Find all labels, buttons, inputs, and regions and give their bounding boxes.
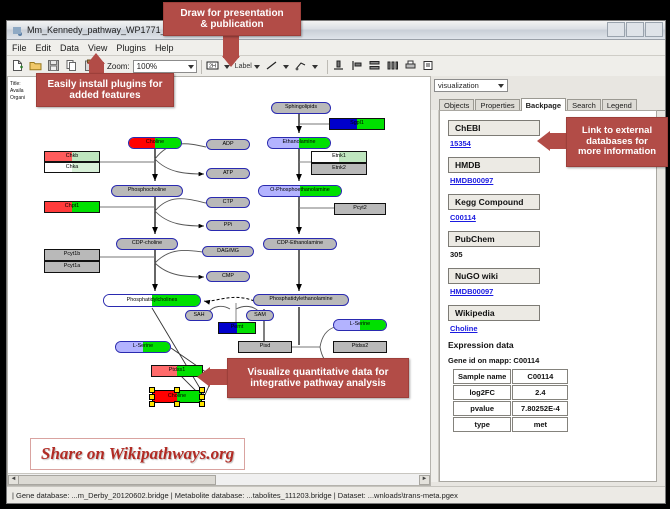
node-label: Phosphocholine <box>128 188 166 193</box>
node-label: Pcyt2 <box>353 206 366 211</box>
pathway-node[interactable]: ADP <box>206 139 250 150</box>
table-cell: met <box>512 417 568 432</box>
align-top-icon[interactable] <box>332 59 347 74</box>
status-text: | Gene database: ...m_Derby_20120602.bri… <box>7 491 458 500</box>
pathway-gene-box[interactable]: Sgpl1 <box>329 118 385 130</box>
copy-icon[interactable] <box>65 59 80 74</box>
table-cell: 7.80252E-4 <box>512 401 568 416</box>
selection-handle[interactable] <box>174 387 180 393</box>
selection-handle[interactable] <box>174 401 180 407</box>
node-label: Chkb <box>66 154 79 159</box>
minimize-button[interactable] <box>607 22 625 37</box>
title-bar: Mm_Kennedy_pathway_WP1771_45176.gpml <box>7 21 665 40</box>
db-header-nugowiki: NuGO wiki <box>448 268 540 284</box>
db-header-kegg: Kegg Compound <box>448 194 540 210</box>
pathway-gene-box[interactable]: Chpt1 <box>44 201 100 213</box>
table-cell: C00114 <box>512 369 568 384</box>
selection-handle[interactable] <box>199 387 205 393</box>
node-label: Sphingolipids <box>285 105 317 110</box>
pathway-gene-box[interactable]: Pcyt1a <box>44 261 100 273</box>
zoom-value: 100% <box>137 62 157 71</box>
node-label: Ptdss2 <box>352 344 368 349</box>
callout-draw-line2: & publication <box>200 19 263 31</box>
canvas-hscrollbar[interactable]: ◄ ► <box>8 473 430 485</box>
callout-plugins-line1: Easily install plugins for <box>47 79 162 91</box>
node-label: Ptdss1 <box>169 368 185 373</box>
node-label: Ethanolamine <box>283 140 316 145</box>
db-header-hmdb: HMDB <box>448 157 540 173</box>
visualization-select-value: visualization <box>438 81 479 90</box>
callout-visualize-line1: Visualize quantitative data for <box>248 367 389 379</box>
callout-visualize-arrow <box>197 367 210 387</box>
zoom-select[interactable]: 100% <box>133 60 197 73</box>
callout-link-line3: more information <box>578 147 656 158</box>
interaction-tool[interactable] <box>294 59 309 74</box>
node-label: Etnk1 <box>332 154 346 159</box>
pathway-node[interactable]: Sphingolipids <box>271 102 331 114</box>
node-label: Pisd <box>260 344 271 349</box>
pathway-gene-box[interactable]: Pcyt2 <box>334 203 386 215</box>
chevron-down-icon[interactable] <box>312 65 318 69</box>
pathway-node[interactable]: ATP <box>206 168 250 179</box>
table-row: Sample name C00114 <box>453 369 568 384</box>
menu-view[interactable]: View <box>88 43 107 53</box>
pathway-node[interactable]: Phosphatidylcholines <box>103 294 201 307</box>
status-bar: | Gene database: ...m_Derby_20120602.bri… <box>7 486 665 503</box>
expression-table: Sample name C00114 log2FC 2.4 pvalue 7.8… <box>452 368 569 433</box>
node-label: CMP <box>222 274 234 279</box>
pathway-node[interactable]: L-Serine <box>333 319 387 331</box>
share-annotation: Share on Wikipathways.org <box>30 438 245 470</box>
scroll-thumb[interactable] <box>18 475 216 485</box>
align-left-icon[interactable] <box>350 59 365 74</box>
menu-plugins[interactable]: Plugins <box>116 43 146 53</box>
node-label: PPi <box>224 223 232 228</box>
line-tool[interactable] <box>265 59 280 74</box>
tab-backpage[interactable]: Backpage <box>521 98 566 112</box>
node-label: Choline <box>146 140 164 145</box>
callout-plugins: Easily install plugins for added feature… <box>36 73 174 107</box>
callout-link-line1: Link to external <box>582 126 652 137</box>
selection-handle[interactable] <box>149 401 155 407</box>
open-folder-icon[interactable] <box>29 59 44 74</box>
selection-handle[interactable] <box>149 394 155 400</box>
visualization-bar: visualization <box>431 76 665 95</box>
pathway-gene-box[interactable]: Pcyt1b <box>44 249 100 261</box>
menu-file[interactable]: File <box>12 43 27 53</box>
svg-text:2H: 2H <box>209 64 216 70</box>
selection-handle[interactable] <box>149 387 155 393</box>
maximize-button[interactable] <box>626 22 644 37</box>
callout-visualize-stem <box>209 369 229 385</box>
pathway-node[interactable]: Phosphocholine <box>111 185 183 197</box>
pathway-node[interactable]: Ethanolamine <box>267 137 331 149</box>
toolbar-separator <box>327 60 328 74</box>
db-link-hmdb[interactable]: HMDB00097 <box>450 176 656 185</box>
callout-draw-arrowhead <box>222 56 240 67</box>
db-link-wikipedia[interactable]: Choline <box>450 324 656 333</box>
node-label: Chka <box>66 165 79 170</box>
callout-link-arrow <box>537 131 550 151</box>
node-label: L-Serine <box>350 322 370 327</box>
chevron-down-icon[interactable] <box>254 65 260 69</box>
toolbar-separator <box>201 60 202 74</box>
pathvisio-icon <box>12 25 23 36</box>
screenshot-root: Mm_Kennedy_pathway_WP1771_45176.gpml Fil… <box>0 0 670 509</box>
gene-id-label: Gene id on mapp: C00114 <box>448 356 656 365</box>
pathway-node[interactable]: PPi <box>206 220 250 231</box>
pathway-node[interactable]: CDP-Ethanolamine <box>263 238 337 250</box>
callout-visualize: Visualize quantitative data for integrat… <box>227 358 409 398</box>
chevron-down-icon <box>498 84 504 88</box>
pathway-canvas[interactable]: Choline Phosphocholine CDP-choline Phosp… <box>8 77 431 472</box>
chevron-down-icon <box>188 65 194 69</box>
table-cell: Sample name <box>453 369 511 384</box>
info-icon[interactable] <box>422 59 437 74</box>
pathway-gene-box[interactable]: Pemt <box>218 322 256 334</box>
callout-plugins-arrow <box>87 53 105 64</box>
pathway-gene-box[interactable]: Ptdss1 <box>151 365 203 377</box>
db-header-pubchem: PubChem <box>448 231 540 247</box>
pathway-node[interactable]: SAM <box>246 310 274 321</box>
table-row: pvalue 7.80252E-4 <box>453 401 568 416</box>
callout-link: Link to external databases for more info… <box>566 117 668 167</box>
save-icon[interactable] <box>47 59 62 74</box>
distribute-icon[interactable] <box>386 59 401 74</box>
node-label: Choline <box>168 394 186 399</box>
expression-data-heading: Expression data <box>448 340 656 350</box>
side-panel-vscrollbar[interactable] <box>431 110 439 482</box>
pathway-gene-box[interactable]: Etnk1 <box>311 151 367 163</box>
pathway-gene-box[interactable]: Ptdss2 <box>333 341 387 353</box>
node-label: Phosphatidylethanolamine <box>269 297 332 302</box>
datanode-tool[interactable]: 2H <box>206 59 221 74</box>
node-label: Chpt1 <box>65 204 79 209</box>
db-header-chebi: ChEBI <box>448 120 540 136</box>
pathway-node[interactable]: SAH <box>185 310 213 321</box>
node-label: SAM <box>254 313 266 318</box>
node-label: ADP <box>222 142 233 147</box>
node-label: L-Serine <box>133 344 153 349</box>
db-value-pubchem: 305 <box>450 250 656 259</box>
pathway-gene-box[interactable]: Chka <box>44 162 100 173</box>
canvas-title-line: Availa <box>10 88 24 95</box>
node-label: Sgpl1 <box>350 121 364 126</box>
pathway-node[interactable]: Phosphatidylethanolamine <box>253 294 349 306</box>
node-label: Etnk2 <box>332 166 346 171</box>
menu-help[interactable]: Help <box>155 43 174 53</box>
table-cell: type <box>453 417 511 432</box>
node-label: SAH <box>193 313 204 318</box>
canvas-title-line: Title: <box>10 81 21 88</box>
callout-plugins-line2: added features <box>69 90 140 102</box>
table-row: type met <box>453 417 568 432</box>
node-label: CTP <box>223 200 234 205</box>
db-header-wikipedia: Wikipedia <box>448 305 540 321</box>
node-label: Pcyt1b <box>64 252 80 257</box>
pathway-node[interactable]: DAG/MG <box>202 246 254 257</box>
callout-draw: Draw for presentation & publication <box>163 2 301 36</box>
menu-edit[interactable]: Edit <box>36 43 52 53</box>
db-link-nugowiki[interactable]: HMDB00097 <box>450 287 656 296</box>
pathway-gene-box[interactable]: Chkb <box>44 151 100 162</box>
pathway-canvas-panel[interactable]: Choline Phosphocholine CDP-choline Phosp… <box>7 76 431 486</box>
node-label: DAG/MG <box>217 249 239 254</box>
node-label: Phosphatidylcholines <box>127 298 178 303</box>
node-label: Pcyt1a <box>64 264 80 269</box>
scroll-right-button[interactable]: ► <box>419 475 430 485</box>
table-row: log2FC 2.4 <box>453 385 568 400</box>
pathway-node[interactable]: CMP <box>206 271 250 282</box>
selection-handle[interactable] <box>199 401 205 407</box>
pathway-gene-box[interactable]: Etnk2 <box>311 163 367 175</box>
node-label: CDP-Ethanolamine <box>277 241 323 246</box>
menu-data[interactable]: Data <box>60 43 79 53</box>
side-panel-tabs: Objects Properties Backpage Search Legen… <box>431 95 665 111</box>
node-label: Pemt <box>231 325 244 330</box>
pathway-node[interactable]: Choline <box>128 137 182 149</box>
canvas-title-line: Organi <box>10 95 25 102</box>
pathway-node[interactable]: L-Serine <box>115 341 171 353</box>
window-controls[interactable] <box>607 22 663 37</box>
visualization-select[interactable]: visualization <box>434 79 508 92</box>
new-file-icon[interactable] <box>11 59 26 74</box>
chevron-down-icon[interactable] <box>283 65 289 69</box>
callout-visualize-line2: integrative pathway analysis <box>250 378 386 390</box>
print-icon[interactable] <box>404 59 419 74</box>
db-link-kegg[interactable]: C00114 <box>450 213 656 222</box>
selection-handle[interactable] <box>199 394 205 400</box>
pathway-node[interactable]: O-Phosphoethanolamine <box>258 185 342 197</box>
node-label: O-Phosphoethanolamine <box>270 188 330 193</box>
share-annotation-text: Share on Wikipathways.org <box>41 444 234 463</box>
zoom-label: Zoom: <box>107 62 130 71</box>
callout-draw-line1: Draw for presentation <box>180 8 283 20</box>
table-cell: pvalue <box>453 401 511 416</box>
close-button[interactable] <box>645 22 663 37</box>
node-label: ATP <box>223 171 233 176</box>
stack-icon[interactable] <box>368 59 383 74</box>
pathway-gene-box[interactable]: Pisd <box>238 341 292 353</box>
pathway-node[interactable]: CTP <box>206 197 250 208</box>
menu-bar: File Edit Data View Plugins Help <box>7 40 665 56</box>
table-cell: 2.4 <box>512 385 568 400</box>
table-cell: log2FC <box>453 385 511 400</box>
node-label: CDP-choline <box>132 241 162 246</box>
pathway-node[interactable]: CDP-choline <box>116 238 178 250</box>
